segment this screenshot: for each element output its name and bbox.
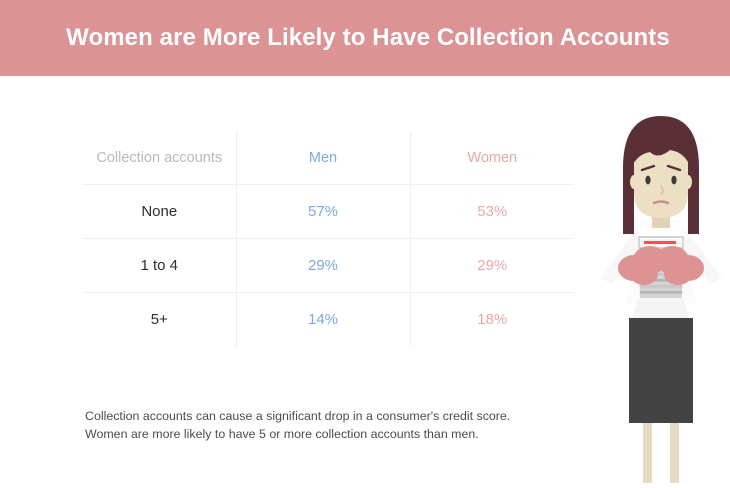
page-title: Women are More Likely to Have Collection… [0,24,730,52]
column-header-men: Men [236,131,410,185]
table-header: Collection accounts Men Women [83,131,574,185]
column-header-collection-accounts: Collection accounts [83,131,236,185]
table-row: 5+ 14% 18% [83,293,574,347]
value-women-5-plus: 18% [410,293,574,347]
row-label-1-to-4: 1 to 4 [83,239,236,293]
collection-accounts-table: Collection accounts Men Women None 57% 5… [83,131,574,346]
footnote: Collection accounts can cause a signific… [85,408,585,443]
table-row: 1 to 4 29% 29% [83,239,574,293]
value-women-1-to-4: 29% [410,239,574,293]
value-men-5-plus: 14% [236,293,410,347]
row-label-5-plus: 5+ [83,293,236,347]
mouth [654,202,668,204]
value-men-1-to-4: 29% [236,239,410,293]
footnote-line-1: Collection accounts can cause a signific… [85,408,585,426]
stats-table-container: Collection accounts Men Women None 57% 5… [83,131,574,343]
table-body: None 57% 53% 1 to 4 29% 29% 5+ 14% 18% [83,185,574,347]
infographic-root: Women are More Likely to Have Collection… [0,0,730,483]
worried-woman-svg [592,108,730,483]
value-men-none: 57% [236,185,410,239]
footnote-line-2: Women are more likely to have 5 or more … [85,426,585,444]
skirt [629,318,693,423]
header-banner: Women are More Likely to Have Collection… [0,0,730,76]
column-header-women: Women [410,131,574,185]
table-row: None 57% 53% [83,185,574,239]
table-header-row: Collection accounts Men Women [83,131,574,185]
worried-woman-illustration [592,108,730,483]
value-women-none: 53% [410,185,574,239]
legs [643,423,679,483]
row-label-none: None [83,185,236,239]
shirt-hem [632,298,690,320]
